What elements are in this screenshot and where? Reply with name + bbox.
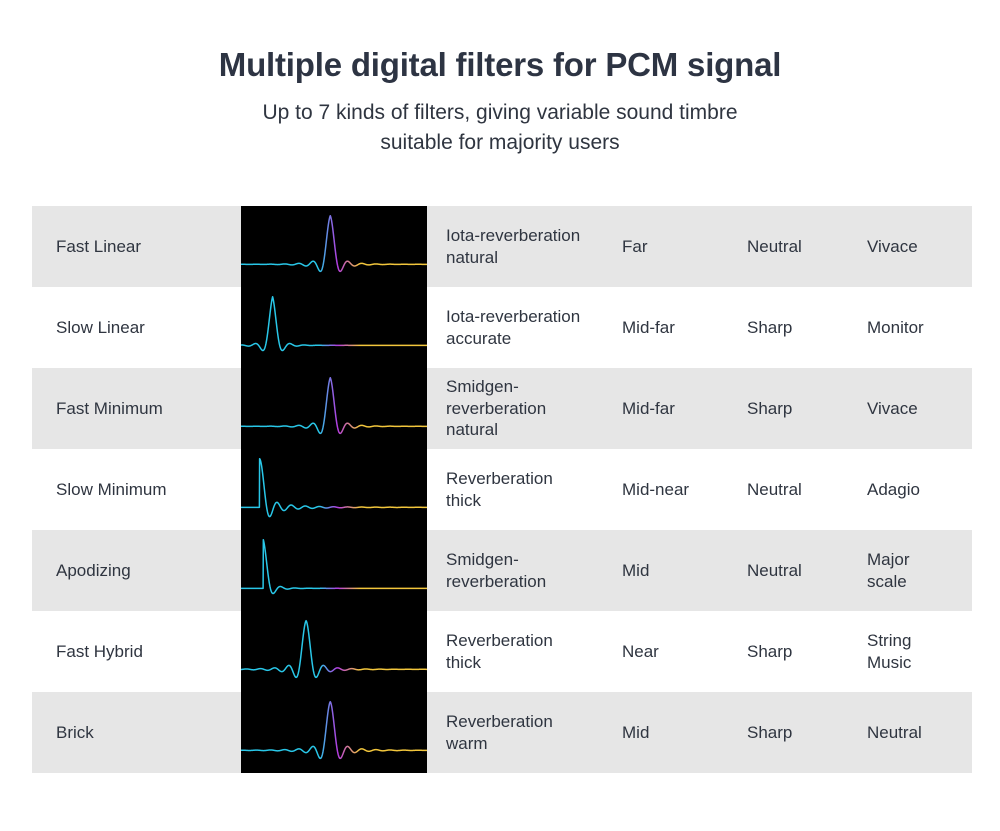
- filter-distance-cell: Mid: [622, 530, 747, 611]
- filter-style-line: Music: [867, 652, 911, 674]
- filter-style-line: scale: [867, 571, 910, 593]
- filter-description-cell: Iota-reverberationnatural: [427, 206, 622, 287]
- impulse-response-waveform: [241, 449, 427, 530]
- table-row: Fast LinearIota-reverberationnaturalFarN…: [32, 206, 972, 287]
- filter-style-line: String: [867, 630, 911, 652]
- filter-description-line: Iota-reverberation: [446, 306, 580, 328]
- table-row: Slow MinimumReverberationthickMid-nearNe…: [32, 449, 972, 530]
- filter-tone-cell: Neutral: [747, 449, 867, 530]
- filter-description-line: Reverberation: [446, 468, 553, 490]
- filter-style-cell: Adagio: [867, 449, 972, 530]
- filter-description-line: natural: [446, 419, 546, 441]
- filter-description-line: Smidgen-: [446, 549, 546, 571]
- filter-description-line: accurate: [446, 328, 580, 350]
- filter-description-line: thick: [446, 490, 553, 512]
- filter-description-cell: Reverberationthick: [427, 611, 622, 692]
- filter-style-cell: Vivace: [867, 206, 972, 287]
- filter-style-cell: Monitor: [867, 287, 972, 368]
- impulse-response-waveform: [241, 368, 427, 449]
- filter-style-cell: Vivace: [867, 368, 972, 449]
- filter-description-line: Reverberation: [446, 711, 553, 733]
- impulse-response-waveform: [241, 611, 427, 692]
- table-row: Slow LinearIota-reverberationaccurateMid…: [32, 287, 972, 368]
- filter-style-cell: Majorscale: [867, 530, 972, 611]
- filter-distance-cell: Far: [622, 206, 747, 287]
- filter-distance-cell: Mid-near: [622, 449, 747, 530]
- filter-style-line: Adagio: [867, 479, 920, 501]
- filter-name-cell: Fast Linear: [32, 206, 241, 287]
- impulse-response-waveform: [241, 530, 427, 611]
- filter-tone-cell: Neutral: [747, 530, 867, 611]
- impulse-response-waveform: [241, 206, 427, 287]
- filter-description-line: reverberation: [446, 398, 546, 420]
- filter-style-line: Neutral: [867, 722, 922, 744]
- page-title: Multiple digital filters for PCM signal: [0, 46, 1000, 84]
- table-row: BrickReverberationwarmMidSharpNeutral: [32, 692, 972, 773]
- filter-style-line: Vivace: [867, 236, 918, 258]
- filter-description-line: Iota-reverberation: [446, 225, 580, 247]
- impulse-response-waveform: [241, 287, 427, 368]
- table-row: ApodizingSmidgen-reverberationMidNeutral…: [32, 530, 972, 611]
- filter-tone-cell: Sharp: [747, 368, 867, 449]
- page-subtitle: Up to 7 kinds of filters, giving variabl…: [130, 98, 870, 158]
- filter-description-line: Smidgen-: [446, 376, 546, 398]
- filter-description-line: reverberation: [446, 571, 546, 593]
- filter-description-line: natural: [446, 247, 580, 269]
- filter-description-cell: Reverberationwarm: [427, 692, 622, 773]
- infographic-page: Multiple digital filters for PCM signal …: [0, 0, 1000, 831]
- filter-distance-cell: Mid-far: [622, 368, 747, 449]
- subtitle-line-2: suitable for majority users: [130, 128, 870, 158]
- filter-description-cell: Smidgen-reverberation: [427, 530, 622, 611]
- filter-style-line: Major: [867, 549, 910, 571]
- filter-name-cell: Fast Minimum: [32, 368, 241, 449]
- filter-description-line: Reverberation: [446, 630, 553, 652]
- filter-description-cell: Reverberationthick: [427, 449, 622, 530]
- filter-description-cell: Iota-reverberationaccurate: [427, 287, 622, 368]
- filter-tone-cell: Sharp: [747, 611, 867, 692]
- filter-name-cell: Slow Minimum: [32, 449, 241, 530]
- filter-style-cell: Neutral: [867, 692, 972, 773]
- filter-tone-cell: Sharp: [747, 692, 867, 773]
- filter-name-cell: Slow Linear: [32, 287, 241, 368]
- filter-name-cell: Apodizing: [32, 530, 241, 611]
- filter-tone-cell: Neutral: [747, 206, 867, 287]
- filter-description-line: warm: [446, 733, 553, 755]
- filter-distance-cell: Mid-far: [622, 287, 747, 368]
- page-header: Multiple digital filters for PCM signal …: [0, 0, 1000, 158]
- filter-style-line: Vivace: [867, 398, 918, 420]
- filter-description-line: thick: [446, 652, 553, 674]
- filter-tone-cell: Sharp: [747, 287, 867, 368]
- filter-description-cell: Smidgen-reverberationnatural: [427, 368, 622, 449]
- filter-name-cell: Fast Hybrid: [32, 611, 241, 692]
- filter-distance-cell: Mid: [622, 692, 747, 773]
- table-row: Fast MinimumSmidgen-reverberationnatural…: [32, 368, 972, 449]
- filter-comparison-table: Fast LinearIota-reverberationnaturalFarN…: [32, 206, 972, 773]
- filter-style-cell: StringMusic: [867, 611, 972, 692]
- filter-distance-cell: Near: [622, 611, 747, 692]
- impulse-response-waveform: [241, 692, 427, 773]
- filter-style-line: Monitor: [867, 317, 924, 339]
- subtitle-line-1: Up to 7 kinds of filters, giving variabl…: [130, 98, 870, 128]
- filter-name-cell: Brick: [32, 692, 241, 773]
- table-row: Fast HybridReverberationthickNearSharpSt…: [32, 611, 972, 692]
